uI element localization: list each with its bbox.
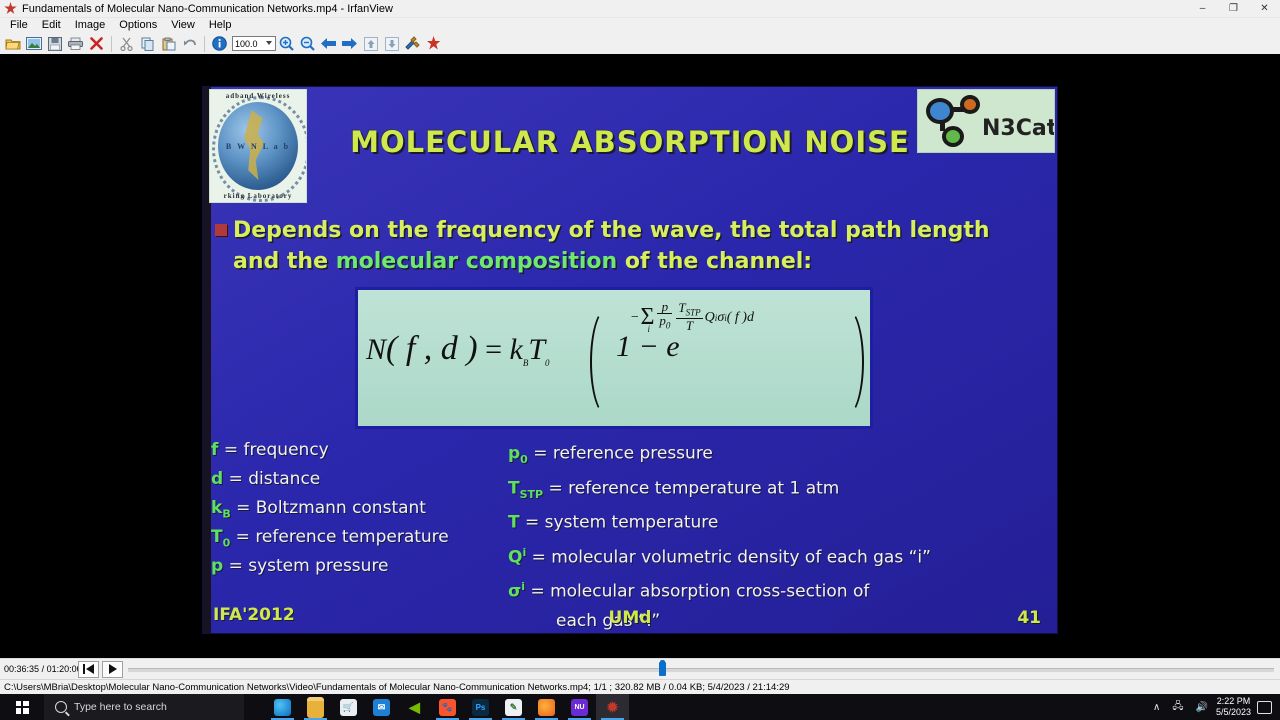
windows-logo-icon (16, 701, 29, 714)
legend-item: p = system pressure (211, 555, 511, 584)
legend-item: T = system temperature (508, 506, 1053, 541)
legend-text: = frequency (224, 440, 329, 460)
total-time: 01:20:00 (47, 664, 82, 674)
legend-item: f = frequency (211, 439, 511, 468)
minimize-button[interactable]: – (1187, 0, 1218, 17)
formula-args: ( f , d ) (386, 330, 478, 367)
menu-edit[interactable]: Edit (35, 18, 68, 33)
formula-frac1-den: p0 (657, 314, 672, 333)
toolbar-separator-2 (204, 36, 205, 52)
formula-frac2-den: T (676, 319, 702, 332)
delete-icon[interactable] (86, 34, 107, 54)
maximize-button[interactable]: ❐ (1218, 0, 1249, 17)
formula-kb: k (510, 333, 523, 366)
network-icon[interactable]: 🖧 (1172, 699, 1183, 716)
legend-text: = reference temperature (236, 527, 449, 547)
clock-date: 5/5/2023 (1216, 707, 1251, 718)
mail-icon: ✉ (373, 699, 390, 716)
legend-symbol: d (211, 469, 223, 489)
menu-image[interactable]: Image (68, 18, 113, 33)
legend-item: p0 = reference pressure (508, 437, 1053, 472)
next-icon[interactable] (339, 34, 360, 54)
window-title: Fundamentals of Molecular Nano-Communica… (22, 3, 393, 15)
legend-symbol: T (508, 478, 520, 498)
menu-bar: File Edit Image Options View Help (0, 18, 1280, 33)
previous-frame-button[interactable] (78, 661, 99, 678)
legend-symbol: k (211, 498, 222, 518)
info-icon[interactable] (209, 34, 230, 54)
legend-symbol: Q (508, 547, 522, 567)
search-input[interactable]: Type here to search (44, 694, 244, 720)
status-bar: C:\Users\MBria\Desktop\Molecular Nano-Co… (0, 679, 1280, 695)
print-icon[interactable] (65, 34, 86, 54)
bullet-square-icon (215, 224, 227, 236)
legend-symbol-sub: 0 (223, 536, 231, 549)
previous-icon[interactable] (318, 34, 339, 54)
footer-page-number: 41 (1017, 608, 1041, 628)
formula-exp-minus: − (630, 310, 639, 326)
legend-symbol-sub: STP (520, 488, 544, 501)
tray-chevron-icon[interactable]: ∧ (1153, 702, 1160, 713)
edge-icon (274, 699, 291, 716)
bullet-line1: Depends on the frequency of the wave, th… (233, 218, 990, 243)
legend-item: Qi = molecular volumetric density of eac… (508, 541, 1053, 576)
n3cat-label: N3Cat (982, 116, 1055, 141)
bullet-text: Depends on the frequency of the wave, th… (233, 215, 1057, 277)
formula-frac2-num-sub: STP (686, 307, 701, 317)
nu-audio-icon: NU (571, 699, 588, 716)
taskbar: Type here to search 🛒 ✉ ◀ 🐾 Ps (0, 694, 1280, 720)
irfanview-window: Fundamentals of Molecular Nano-Communica… (0, 0, 1280, 720)
bwn-logo-arc-bottom: rking Laboratory (210, 192, 306, 200)
file-explorer-icon (307, 697, 324, 718)
first-icon[interactable] (360, 34, 381, 54)
bullet-line2-b: of the channel: (617, 249, 812, 274)
photoshop-icon: Ps (472, 699, 489, 716)
legend-item: kB = Boltzmann constant (211, 497, 511, 526)
taskbar-apps: 🛒 ✉ ◀ 🐾 Ps ✎ NU ✹ (266, 694, 629, 720)
taskbar-app-photoshop[interactable]: Ps (464, 694, 497, 720)
taskbar-app-mail[interactable]: ✉ (365, 694, 398, 720)
legend-symbol: T (508, 513, 520, 533)
footer-institution: UMd (203, 608, 1057, 628)
menu-options[interactable]: Options (112, 18, 164, 33)
zoom-value: 100.0 (235, 39, 258, 49)
save-icon[interactable] (44, 34, 65, 54)
notepad-icon: ✎ (505, 699, 522, 716)
system-tray: ∧ 🖧 🔊 2:22 PM 5/5/2023 (1147, 694, 1280, 720)
taskbar-app-nvidia[interactable]: ◀ (398, 694, 431, 720)
menu-help[interactable]: Help (202, 18, 239, 33)
seek-rail (128, 668, 1274, 672)
legend-item: d = distance (211, 468, 511, 497)
n3cat-node-orange (960, 95, 980, 114)
nvidia-icon: ◀ (406, 699, 423, 716)
formula-N: N (366, 333, 386, 366)
zoom-combobox[interactable]: 100.0 (232, 36, 276, 51)
settings-icon[interactable] (402, 34, 423, 54)
formula-close-paren (832, 308, 850, 412)
paste-icon[interactable] (158, 34, 179, 54)
formula-t0: T (528, 333, 545, 366)
legend-text: = distance (229, 469, 321, 489)
legend-text: = system temperature (525, 513, 718, 533)
taskbar-app-edge[interactable] (266, 694, 299, 720)
zoom-in-icon[interactable] (276, 34, 297, 54)
zoom-out-icon[interactable] (297, 34, 318, 54)
clock[interactable]: 2:22 PM 5/5/2023 (1216, 696, 1251, 718)
bullet-line2-a: and the (233, 249, 336, 274)
irfanview-icon (4, 2, 17, 15)
play-triangle-icon (109, 664, 117, 674)
thumbnails-icon[interactable] (23, 34, 44, 54)
formula-f-arg: ( f ) (727, 310, 747, 326)
formula-box: N( f , d ) = kBT0 1 − e − Σi p (355, 287, 873, 429)
title-bar: Fundamentals of Molecular Nano-Communica… (0, 0, 1280, 18)
chevron-down-icon[interactable] (266, 41, 272, 45)
notification-icon[interactable] (1257, 701, 1272, 714)
legend-symbol: T (211, 527, 223, 547)
play-button[interactable] (102, 661, 123, 678)
n3cat-node-green (942, 126, 964, 147)
formula-t0-sub: 0 (545, 358, 550, 368)
microsoft-store-icon: 🛒 (340, 699, 357, 716)
legend-left-column: f = frequency d = distance kB = Boltzman… (211, 439, 511, 583)
formula-one-minus-e: 1 − e (616, 330, 680, 364)
formula-frac2-num-t: T (678, 300, 685, 315)
toolbar: 100.0 (0, 33, 1280, 55)
taskbar-app-irfanview[interactable]: ✹ (596, 694, 629, 720)
slide-header: adband Wireless B W N L a b rking Labora… (203, 87, 1057, 197)
irfanview-taskbar-icon: ✹ (604, 699, 621, 716)
menu-file[interactable]: File (3, 18, 35, 33)
taskbar-app-brave[interactable]: 🐾 (431, 694, 464, 720)
volume-icon[interactable]: 🔊 (1196, 702, 1208, 713)
formula-sigma: Σi (640, 304, 654, 331)
formula-frac-tstp-t: TSTP T (676, 302, 702, 333)
video-frame: adband Wireless B W N L a b rking Labora… (104, 54, 1178, 658)
legend-symbol-sub: 0 (520, 453, 528, 466)
taskbar-app-microsoft-store[interactable]: 🛒 (332, 694, 365, 720)
player-bar: 00:36:35 / 01:20:00 (0, 658, 1280, 679)
slide-footer: IFA'2012 UMd 41 (203, 603, 1057, 625)
search-placeholder: Type here to search (74, 701, 167, 713)
taskbar-app-file-explorer[interactable] (299, 694, 332, 720)
formula-left-hand-side: N( f , d ) = kBT0 (366, 330, 550, 368)
presentation-slide: adband Wireless B W N L a b rking Labora… (203, 87, 1057, 633)
firefox-icon (538, 699, 555, 716)
window-controls: – ❐ ✕ (1187, 0, 1280, 17)
seek-thumb[interactable] (659, 662, 666, 676)
last-icon[interactable] (381, 34, 402, 54)
legend-item: T0 = reference temperature (211, 526, 511, 555)
plugins-icon[interactable] (423, 34, 444, 54)
taskbar-app-nu-audio[interactable]: NU (563, 694, 596, 720)
toolbar-separator (111, 36, 112, 52)
open-icon[interactable] (2, 34, 23, 54)
n3cat-logo: N3Cat (917, 89, 1055, 153)
bullet-line2-highlight: molecular composition (336, 249, 618, 274)
formula-frac-p-p0: p p0 (657, 301, 672, 333)
legend-symbol: f (211, 440, 218, 460)
status-text: C:\Users\MBria\Desktop\Molecular Nano-Co… (0, 682, 790, 693)
legend-symbol-sup: i (522, 546, 526, 559)
brave-lion-icon: 🐾 (439, 699, 456, 716)
legend-text: = system pressure (229, 556, 389, 576)
menu-view[interactable]: View (164, 18, 202, 33)
cut-icon[interactable] (116, 34, 137, 54)
formula-Q: Q (705, 310, 715, 326)
n3cat-node-blue (926, 98, 954, 124)
close-button[interactable]: ✕ (1249, 0, 1280, 17)
slide-bullet: Depends on the frequency of the wave, th… (211, 215, 1057, 277)
legend-symbol: p (508, 444, 520, 464)
previous-triangle-icon (86, 664, 94, 674)
start-button[interactable] (0, 694, 44, 720)
bwn-logo-arc-top: adband Wireless (210, 92, 306, 100)
formula-d-term: d (747, 310, 754, 326)
legend-symbol: p (211, 556, 223, 576)
time-separator: / (42, 664, 45, 674)
formula-equals: = (485, 333, 502, 366)
formula-frac2-num: TSTP (676, 302, 702, 320)
taskbar-app-firefox[interactable] (530, 694, 563, 720)
legend-symbol-sup: i (521, 580, 525, 593)
legend-item: TSTP = reference temperature at 1 atm (508, 472, 1053, 507)
taskbar-app-notepad[interactable]: ✎ (497, 694, 530, 720)
formula-sigma-sub: i (647, 324, 650, 334)
undo-icon[interactable] (179, 34, 200, 54)
copy-icon[interactable] (137, 34, 158, 54)
legend-text: = reference pressure (533, 444, 713, 464)
noise-formula: N( f , d ) = kBT0 1 − e − Σi p (358, 290, 870, 426)
legend-symbol: σ (508, 582, 521, 602)
current-time: 00:36:35 (4, 664, 39, 674)
formula-open-paren (586, 308, 604, 412)
n3cat-graph-icon (924, 93, 984, 149)
legend-text: = reference temperature at 1 atm (549, 478, 840, 498)
legend-text: = molecular absorption cross-section of (530, 582, 869, 602)
formula-frac1-den-sub: 0 (666, 321, 671, 331)
formula-exponent: − Σi p p0 TSTP T Qi σi (630, 302, 754, 334)
search-icon (55, 701, 67, 713)
seek-slider[interactable] (128, 659, 1274, 679)
formula-sigma-i: σ (717, 310, 724, 326)
legend-text: = molecular volumetric density of each g… (532, 547, 931, 567)
player-time: 00:36:35 / 01:20:00 (0, 664, 78, 674)
legend-text: = Boltzmann constant (236, 498, 426, 518)
clock-time: 2:22 PM (1216, 696, 1251, 707)
image-canvas[interactable]: adband Wireless B W N L a b rking Labora… (0, 54, 1280, 658)
legend-symbol-sub: B (222, 507, 230, 520)
